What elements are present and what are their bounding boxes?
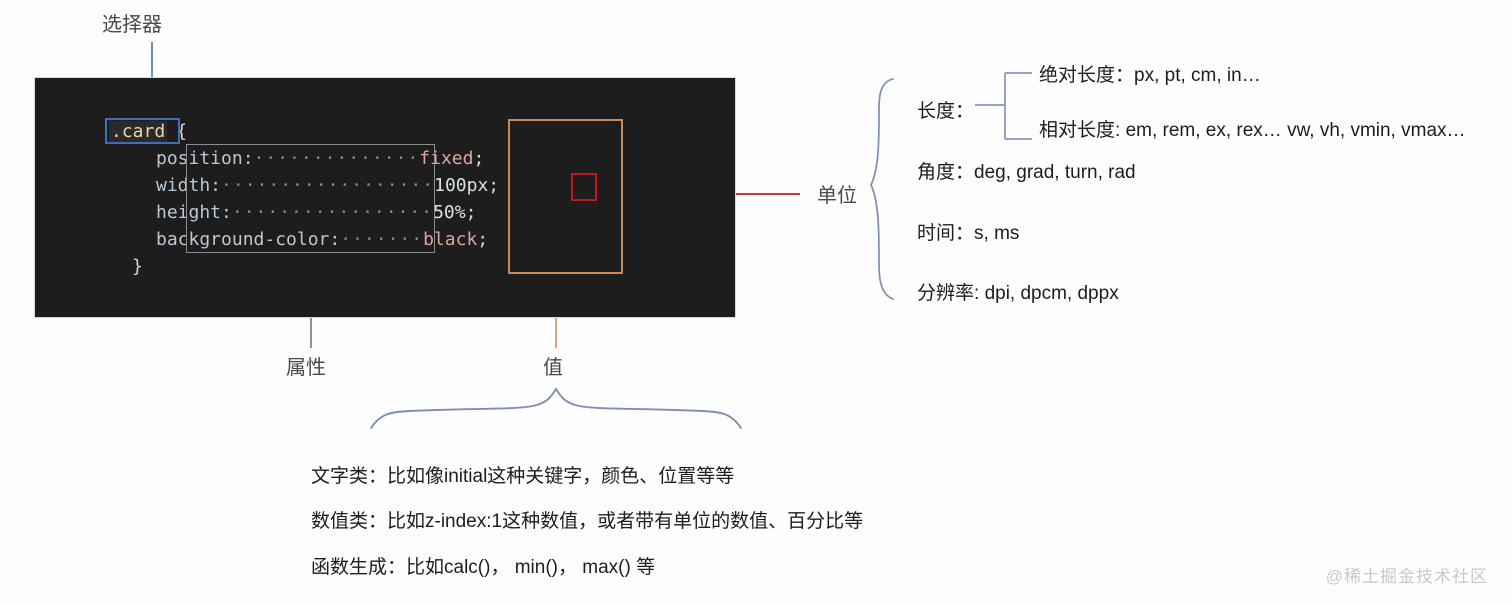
semicolon-height: ; [466, 202, 477, 223]
unit-brace [871, 79, 893, 299]
value-category-text: 文字类：比如像initial这种关键字，颜色、位置等等 [311, 461, 734, 488]
unit-resolution-values: dpi, dpcm, dppx [985, 283, 1119, 304]
unit-relative-label: 相对长度: [1039, 120, 1120, 141]
value-category-numeric: 数值类：比如z-index:1这种数值，或者带有单位的数值、百分比等 [311, 506, 863, 533]
unit-angle: 角度：deg, grad, turn, rad [917, 157, 1136, 184]
unit-time-values: s, ms [974, 223, 1019, 244]
close-brace: } [132, 253, 143, 280]
unit-absolute-label: 绝对长度： [1039, 65, 1134, 86]
length-tree-connector [975, 73, 1032, 139]
value-height: 50% [433, 202, 466, 223]
diagram-canvas: .card{ position:··············fixed; wid… [0, 0, 1512, 603]
semicolon-position: ; [473, 148, 484, 169]
highlight-box-properties [186, 144, 435, 253]
watermark: @稀土掘金技术社区 [1326, 562, 1488, 587]
semicolon-background-color: ; [477, 229, 488, 250]
unit-absolute-values: px, pt, cm, in… [1134, 65, 1261, 86]
label-property: 属性 [286, 358, 326, 378]
value-width: 100px [434, 175, 488, 196]
unit-length-label-text: 长度： [917, 101, 974, 122]
label-selector: 选择器 [102, 15, 162, 35]
unit-resolution-label: 分辨率: [917, 283, 979, 304]
unit-resolution: 分辨率: dpi, dpcm, dppx [917, 278, 1119, 305]
unit-angle-label: 角度： [917, 162, 974, 183]
unit-angle-values: deg, grad, turn, rad [974, 162, 1136, 183]
highlight-box-values [508, 119, 623, 274]
semicolon-width: ; [488, 175, 499, 196]
unit-relative-length: 相对长度: em, rem, ex, rex… vw, vh, vmin, vm… [1039, 115, 1466, 142]
value-brace [371, 389, 741, 428]
highlight-box-selector [105, 118, 180, 144]
unit-time-label: 时间： [917, 223, 974, 244]
unit-relative-values: em, rem, ex, rex… vw, vh, vmin, vmax… [1126, 120, 1466, 141]
label-unit: 单位 [817, 186, 857, 206]
highlight-box-unit [571, 173, 597, 201]
unit-time: 时间：s, ms [917, 218, 1019, 245]
value-category-function: 函数生成：比如calc()， min()， max() 等 [311, 552, 655, 579]
unit-length-label: 长度： [917, 96, 974, 123]
unit-absolute-length: 绝对长度：px, pt, cm, in… [1039, 60, 1261, 87]
label-value: 值 [543, 358, 563, 378]
